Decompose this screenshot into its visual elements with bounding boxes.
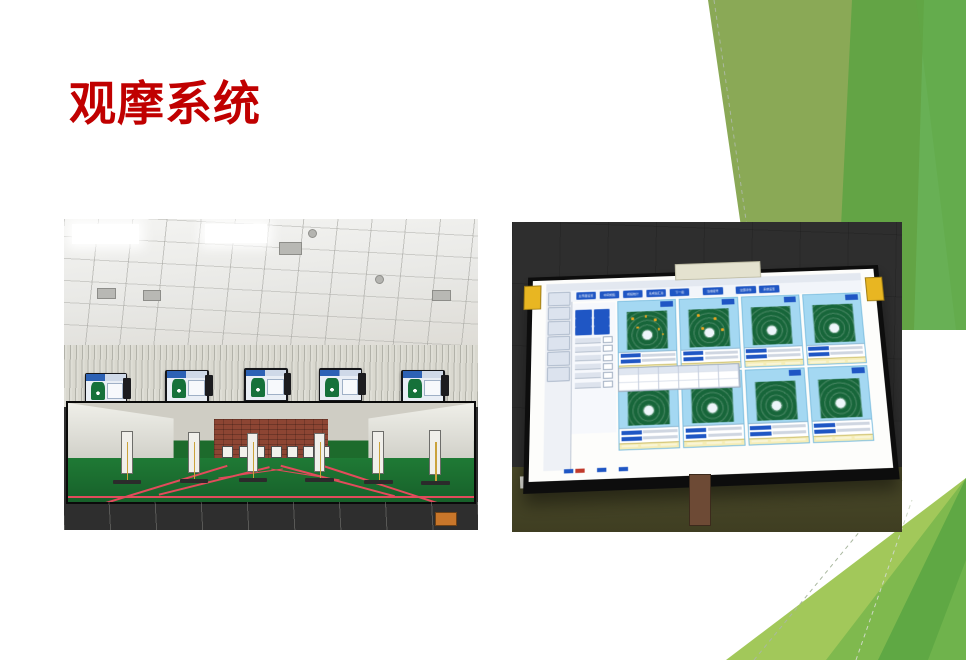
status-item-sync: [563, 469, 584, 474]
wall-monitor: [165, 370, 209, 403]
target-card-info: [683, 424, 743, 447]
detail-table-column: [698, 365, 719, 388]
board-surface: 主界面设置 中间成绩 成绩统计 总成绩汇总 下一组 当前组号 全部清零 系统设置: [528, 269, 893, 482]
score-cell: [706, 442, 722, 445]
param-row-report-mode: [574, 372, 613, 380]
monitor-info-panel: [342, 379, 359, 395]
ceiling-vent: [143, 290, 162, 301]
param-value-input[interactable]: [602, 337, 612, 344]
sidebar-item-scores[interactable]: [547, 321, 570, 336]
target-card-tag: [812, 421, 836, 436]
score-cell: [747, 363, 763, 366]
target-card-tag: [618, 352, 640, 366]
detail-table-cell: [699, 380, 718, 388]
target-card-body: [745, 378, 806, 423]
wall-target: [303, 446, 314, 458]
monitor-info-panel: [424, 380, 441, 396]
target-card-text: [770, 422, 808, 437]
score-cell: [790, 439, 806, 442]
control-button-print-score[interactable]: [593, 326, 610, 335]
tag-line: [746, 355, 766, 360]
target-card-info: [744, 345, 803, 367]
score-cell: [686, 443, 702, 446]
target-card-tag: [619, 429, 642, 444]
text-line: [643, 430, 677, 434]
toolbar-button-current-group[interactable]: 当前组号: [702, 288, 722, 296]
ceiling-light: [72, 224, 138, 244]
target-card-info: [748, 421, 809, 444]
frame-pole: [194, 442, 196, 479]
monitor-toolbar: [403, 371, 444, 377]
detail-table-column: [639, 367, 659, 390]
frame-stand: [180, 479, 208, 483]
score-cell: [810, 361, 826, 364]
detail-table-cell: [639, 382, 658, 390]
tag-line: [750, 431, 771, 436]
score-cell: [829, 360, 845, 363]
detail-table-column: [678, 366, 699, 389]
target-card-info: [619, 426, 679, 449]
score-cell: [835, 437, 851, 440]
sidebar-item-settings[interactable]: [546, 352, 569, 367]
lane-badge: [788, 370, 801, 376]
target-card[interactable]: [740, 295, 804, 369]
ceiling-vent: [432, 290, 451, 301]
text-line: [707, 427, 741, 431]
hall-tile-floor: [64, 502, 478, 530]
toolbar-separator: [693, 292, 699, 293]
target-card-text: [834, 420, 872, 435]
text-line: [767, 349, 800, 353]
target-card-text: [706, 425, 743, 440]
target-silhouette: [408, 379, 422, 398]
floor-equipment-box: [435, 512, 458, 526]
target-card-score-row: [744, 360, 802, 368]
tag-line: [750, 425, 771, 430]
param-label: [574, 355, 600, 362]
lane-badge: [660, 301, 673, 307]
photo-scoring-software-board: 主界面设置 中间成绩 成绩统计 总成绩汇总 下一组 当前组号 全部清零 系统设置: [512, 222, 902, 532]
toolbar-button-score-stats[interactable]: 成绩统计: [622, 291, 642, 299]
monitor-mount: [123, 378, 130, 400]
target-card-header: [808, 367, 867, 378]
param-label: [574, 364, 601, 371]
toolbar-button-next-group[interactable]: 下一组: [669, 289, 689, 297]
monitor-info-panel: [188, 380, 205, 396]
param-row-ring-limit: [574, 354, 612, 362]
frame-stand: [113, 480, 141, 484]
target-card-info-top: [619, 427, 679, 443]
target-card-header: [745, 369, 804, 380]
target-silhouette: [172, 379, 186, 398]
frame-pole: [320, 442, 322, 478]
sidebar-item-manage[interactable]: [547, 307, 570, 322]
status-item-device: [596, 468, 605, 473]
param-value-input[interactable]: [602, 372, 613, 379]
param-row-shot-count: [574, 345, 612, 353]
text-line: [830, 352, 863, 356]
page-title: 观摩系统: [69, 80, 261, 129]
text-line: [772, 430, 806, 434]
detail-table-cell: [719, 379, 738, 387]
sidebar-item-overview[interactable]: [547, 292, 569, 307]
target-card[interactable]: [679, 297, 741, 371]
detail-table-cell: [659, 381, 678, 389]
frame-pole: [435, 442, 437, 482]
score-cell: [622, 445, 638, 448]
target-card-text: [642, 427, 679, 442]
ceiling-vent: [97, 288, 116, 299]
target-card-score-row: [807, 357, 865, 365]
target-card-tag: [683, 426, 706, 441]
detail-table-cell: [699, 372, 718, 380]
target-card-body: [619, 383, 679, 428]
target-card-info-top: [683, 425, 743, 441]
photo-indoor-shooting-range: [64, 219, 478, 530]
param-value-input[interactable]: [602, 345, 612, 352]
score-cell: [854, 436, 870, 439]
monitor-info-panel: [107, 383, 123, 399]
slide-canvas: 观摩系统: [0, 0, 966, 660]
range-wide-screen: [66, 401, 476, 504]
monitor-info-panel: [267, 379, 284, 395]
detail-table-cell: [659, 374, 678, 382]
text-line: [643, 435, 677, 439]
monitor-mount: [358, 373, 365, 395]
monitor-screen: [86, 374, 125, 404]
target-silhouette: [251, 378, 265, 397]
board-support-stand: [689, 474, 711, 526]
monitor-screen: [167, 371, 208, 401]
target-card[interactable]: [744, 368, 809, 446]
status-chip: [563, 470, 572, 475]
tag-line: [814, 429, 835, 434]
sidebar-item-reports[interactable]: [547, 336, 570, 351]
monitor-toolbar: [320, 370, 361, 376]
text-line: [836, 422, 870, 426]
toolbar-button-main-settings[interactable]: 主界面设置: [576, 293, 596, 301]
board-corner-bracket-left: [523, 286, 541, 311]
lane-badge: [851, 368, 864, 374]
param-row-precision: [574, 381, 613, 389]
text-line: [707, 433, 741, 437]
monitor-toolbar: [246, 370, 287, 376]
tag-line: [809, 353, 829, 358]
target-card[interactable]: [681, 370, 745, 448]
target-card-score-row: [813, 434, 873, 442]
monitor-toolbar: [86, 374, 125, 380]
status-item-group: [618, 467, 627, 472]
frame-stand: [239, 478, 267, 482]
target-card-tag: [806, 345, 829, 359]
detail-table-cell: [619, 375, 638, 383]
monitor-mount: [284, 373, 291, 395]
wall-target: [287, 446, 298, 458]
score-cell: [847, 360, 863, 363]
toolbar-button-clear-all[interactable]: 全部清零: [735, 287, 755, 295]
frame-pole: [127, 442, 129, 481]
wall-target: [222, 446, 233, 458]
target-silhouette: [325, 378, 339, 397]
toolbar-separator: [726, 291, 732, 292]
detail-table-column: [619, 368, 639, 391]
monitor-screen: [320, 370, 361, 400]
target-silhouette: [628, 385, 670, 426]
text-line: [836, 428, 870, 432]
tag-line: [621, 430, 642, 435]
target-silhouette: [691, 383, 734, 424]
target-card-header: [619, 374, 677, 386]
target-card-score-row: [619, 441, 679, 450]
param-value-input[interactable]: [602, 381, 613, 388]
lane-marking: [68, 496, 474, 498]
target-card-info-top: [812, 420, 872, 436]
text-line: [771, 425, 805, 429]
lane-badge: [783, 297, 796, 303]
param-value-input[interactable]: [602, 354, 612, 361]
target-card[interactable]: [807, 366, 874, 443]
score-cell: [660, 444, 676, 447]
param-label: [574, 382, 601, 389]
text-line: [829, 346, 862, 350]
ceiling-speaker-icon: [375, 275, 384, 284]
detail-table-cell: [719, 372, 738, 380]
param-label: [574, 338, 600, 345]
score-cell: [770, 440, 786, 443]
score-cell: [641, 444, 657, 447]
app-control-panel: [571, 303, 616, 434]
monitor-screen: [246, 370, 287, 400]
target-card-tag: [681, 350, 703, 364]
status-chip-alert: [575, 469, 584, 474]
target-card-tag: [744, 348, 767, 362]
target-card-body: [618, 309, 676, 352]
target-card[interactable]: [617, 299, 678, 373]
lane-badge: [722, 299, 735, 305]
ceiling-light: [205, 224, 267, 243]
target-card-body: [680, 307, 739, 350]
wall-monitor: [244, 368, 288, 401]
target-card-tag: [748, 424, 771, 439]
text-line: [642, 353, 675, 357]
frame-stand: [305, 478, 333, 482]
text-line: [767, 354, 800, 358]
frame-stand: [421, 481, 449, 485]
ceiling-vent: [279, 242, 302, 255]
frame-pole: [379, 442, 381, 481]
monitor-toolbar: [167, 371, 208, 377]
param-value-input[interactable]: [602, 363, 612, 370]
param-row-shoot-time: [574, 363, 613, 371]
text-line: [705, 356, 738, 360]
target-silhouette: [812, 304, 855, 343]
toolbar-button-system-settings[interactable]: 系统设置: [759, 286, 779, 294]
param-label: [574, 346, 600, 353]
target-card-info: [806, 343, 865, 365]
target-card[interactable]: [801, 293, 866, 367]
detail-table-cell: [679, 381, 698, 389]
param-row-shooter-count: [574, 337, 612, 345]
target-silhouette: [750, 307, 792, 346]
score-cell: [815, 438, 831, 441]
tag-line: [683, 357, 703, 362]
tag-line: [746, 349, 766, 354]
status-chip: [596, 468, 605, 473]
range-wide-screen-image: [68, 403, 474, 502]
target-card-body: [682, 381, 742, 426]
app-sidebar: [543, 291, 572, 471]
score-cell: [725, 441, 741, 444]
score-cell: [785, 362, 801, 365]
target-card[interactable]: [618, 373, 680, 451]
status-chip: [618, 467, 627, 472]
lane-badge: [662, 375, 675, 381]
tag-line: [685, 428, 706, 433]
tag-line: [808, 347, 828, 352]
monitor-mount: [441, 375, 448, 397]
frame-stand: [364, 480, 392, 484]
ceiling: [64, 219, 478, 347]
param-label: [574, 373, 601, 380]
target-card-score-row: [684, 439, 744, 447]
sidebar-item-help[interactable]: [546, 367, 569, 382]
monitor-mount: [205, 375, 212, 397]
score-cell: [766, 363, 782, 366]
shot-detail-table: [618, 363, 741, 392]
tag-line: [686, 434, 707, 439]
target-silhouette: [688, 309, 730, 348]
frame-pole: [253, 442, 255, 478]
tag-line: [621, 436, 642, 441]
target-card-info-top: [748, 422, 808, 438]
wall-monitor: [401, 370, 445, 403]
lane-badge: [844, 295, 857, 301]
score-cell: [751, 440, 767, 443]
detail-table-cell: [619, 383, 638, 391]
toolbar-button-interim-score[interactable]: 中间成绩: [599, 292, 619, 300]
target-card-body: [803, 302, 863, 345]
text-line: [704, 351, 737, 355]
target-card-body: [809, 376, 871, 421]
tag-line: [814, 423, 835, 428]
target-card-info: [812, 419, 873, 442]
wall-target: [271, 446, 282, 458]
tag-line: [620, 360, 640, 365]
toolbar-button-total-summary[interactable]: 总成绩汇总: [646, 290, 666, 298]
detail-table-column: [659, 366, 680, 389]
target-card-body: [742, 305, 802, 348]
detail-table-column: [718, 364, 739, 387]
detail-table-cell: [679, 373, 698, 381]
text-line: [642, 359, 675, 363]
monitor-screen: [403, 371, 444, 401]
target-card-score-row: [748, 436, 808, 444]
projection-whiteboard: 主界面设置 中间成绩 成绩统计 总成绩汇总 下一组 当前组号 全部清零 系统设置: [523, 265, 899, 494]
control-button-upload-score[interactable]: [574, 327, 591, 336]
tag-line: [683, 352, 703, 357]
wall-monitor: [319, 368, 363, 401]
control-button-grid: [572, 303, 615, 337]
target-silhouette: [91, 382, 104, 400]
detail-table-cell: [639, 375, 658, 383]
scoring-app: 主界面设置 中间成绩 成绩统计 总成绩汇总 下一组 当前组号 全部清零 系统设置: [543, 273, 877, 471]
target-silhouette: [817, 378, 861, 419]
target-silhouette: [754, 380, 797, 421]
tag-line: [620, 354, 640, 359]
